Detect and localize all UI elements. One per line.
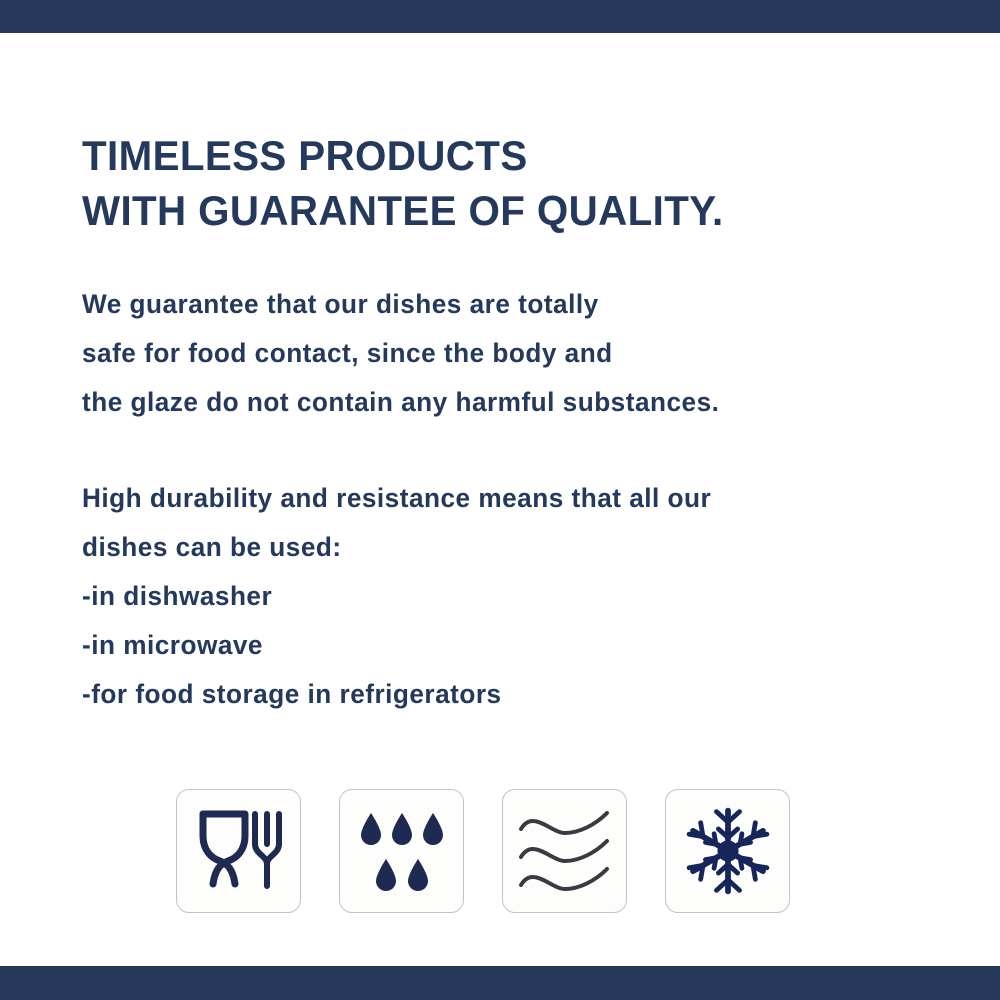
dishwasher-safe-icon-box [339, 789, 464, 913]
page-title-line-2: WITH GUARANTEE OF QUALITY. [82, 183, 927, 238]
freezer-safe-icon-box [665, 789, 790, 913]
microwave-safe-icon [517, 811, 613, 891]
guarantee-line-2: safe for food contact, since the body an… [82, 329, 936, 378]
durability-paragraph: High durability and resistance means tha… [82, 474, 962, 572]
certification-icon-row [176, 789, 790, 913]
guarantee-line-1: We guarantee that our dishes are totally [82, 280, 936, 329]
usage-list: -in dishwasher -in microwave -for food s… [82, 572, 962, 719]
microwave-safe-icon-box [502, 789, 627, 913]
bottom-accent-bar [0, 966, 1000, 1000]
durability-line-2: dishes can be used: [82, 523, 936, 572]
guarantee-paragraph: We guarantee that our dishes are totally… [82, 280, 962, 427]
food-safe-icon [193, 806, 285, 896]
guarantee-line-3: the glaze do not contain any harmful sub… [82, 378, 936, 427]
durability-line-1: High durability and resistance means tha… [82, 474, 936, 523]
promo-page: TIMELESS PRODUCTS WITH GUARANTEE OF QUAL… [0, 0, 1000, 1000]
food-safe-icon-box [176, 789, 301, 913]
list-item: -in dishwasher [82, 572, 936, 621]
content-area: TIMELESS PRODUCTS WITH GUARANTEE OF QUAL… [82, 128, 962, 719]
snowflake-icon [680, 803, 776, 899]
list-item: -for food storage in refrigerators [82, 670, 936, 719]
list-item: -in microwave [82, 621, 936, 670]
page-title-line-1: TIMELESS PRODUCTS [82, 128, 927, 183]
top-accent-bar [0, 0, 1000, 33]
dishwasher-safe-icon [359, 809, 445, 893]
